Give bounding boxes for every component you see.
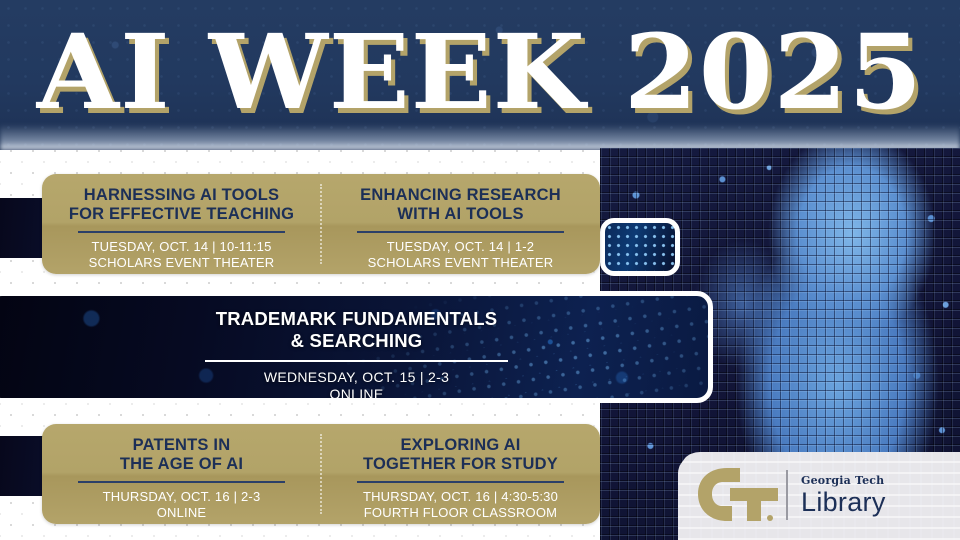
event-title: EXPLORING AI TOGETHER FOR STUDY	[363, 436, 558, 474]
event-card-row-top: HARNESSING AI TOOLS FOR EFFECTIVE TEACHI…	[42, 174, 600, 274]
event-divider-rule	[78, 481, 284, 483]
event-divider-rule	[357, 481, 563, 483]
poster-header: AI WEEK 2025	[0, 0, 960, 150]
event-card-harnessing-ai-tools[interactable]: HARNESSING AI TOOLS FOR EFFECTIVE TEACHI…	[42, 174, 321, 274]
logo-bottom-line: Library	[801, 489, 886, 516]
event-meta: WEDNESDAY, OCT. 15 | 2-3 ONLINE	[264, 369, 449, 403]
event-card-patents-age-of-ai[interactable]: PATENTS IN THE AGE OF AI THURSDAY, OCT. …	[42, 424, 321, 524]
event-meta: TUESDAY, OCT. 14 | 1-2 SCHOLARS EVENT TH…	[368, 239, 554, 270]
event-meta: THURSDAY, OCT. 16 | 2-3 ONLINE	[103, 489, 261, 520]
event-meta: TUESDAY, OCT. 14 | 10-11:15 SCHOLARS EVE…	[89, 239, 275, 270]
event-card-row-bottom: PATENTS IN THE AGE OF AI THURSDAY, OCT. …	[42, 424, 600, 524]
banner-content: TRADEMARK FUNDAMENTALS & SEARCHING WEDNE…	[147, 296, 567, 403]
logo-top-line: Georgia Tech	[801, 475, 886, 486]
georgia-tech-library-logo: Georgia Tech Library	[678, 452, 960, 540]
event-meta: THURSDAY, OCT. 16 | 4:30-5:30 FOURTH FLO…	[363, 489, 558, 520]
poster-canvas: AI WEEK 2025 HARNESSING AI TOOLS FOR EFF…	[0, 0, 960, 540]
event-card-enhancing-research[interactable]: ENHANCING RESEARCH WITH AI TOOLS TUESDAY…	[321, 174, 600, 274]
logo-row: Georgia Tech Library	[694, 464, 944, 526]
gt-monogram-icon	[694, 466, 780, 524]
event-divider-rule	[205, 360, 507, 362]
event-card-trademark-fundamentals[interactable]: TRADEMARK FUNDAMENTALS & SEARCHING WEDNE…	[0, 291, 713, 403]
event-title: PATENTS IN THE AGE OF AI	[120, 436, 243, 474]
decorative-image-tile	[600, 218, 680, 276]
event-divider-rule	[357, 231, 563, 233]
logo-wordmark: Georgia Tech Library	[801, 475, 886, 516]
event-card-exploring-ai-together[interactable]: EXPLORING AI TOGETHER FOR STUDY THURSDAY…	[321, 424, 600, 524]
event-title: TRADEMARK FUNDAMENTALS & SEARCHING	[216, 308, 498, 352]
page-title: AI WEEK 2025	[0, 0, 960, 150]
logo-separator	[786, 470, 788, 520]
event-divider-rule	[78, 231, 284, 233]
event-title: ENHANCING RESEARCH WITH AI TOOLS	[360, 186, 561, 224]
event-title: HARNESSING AI TOOLS FOR EFFECTIVE TEACHI…	[69, 186, 294, 224]
